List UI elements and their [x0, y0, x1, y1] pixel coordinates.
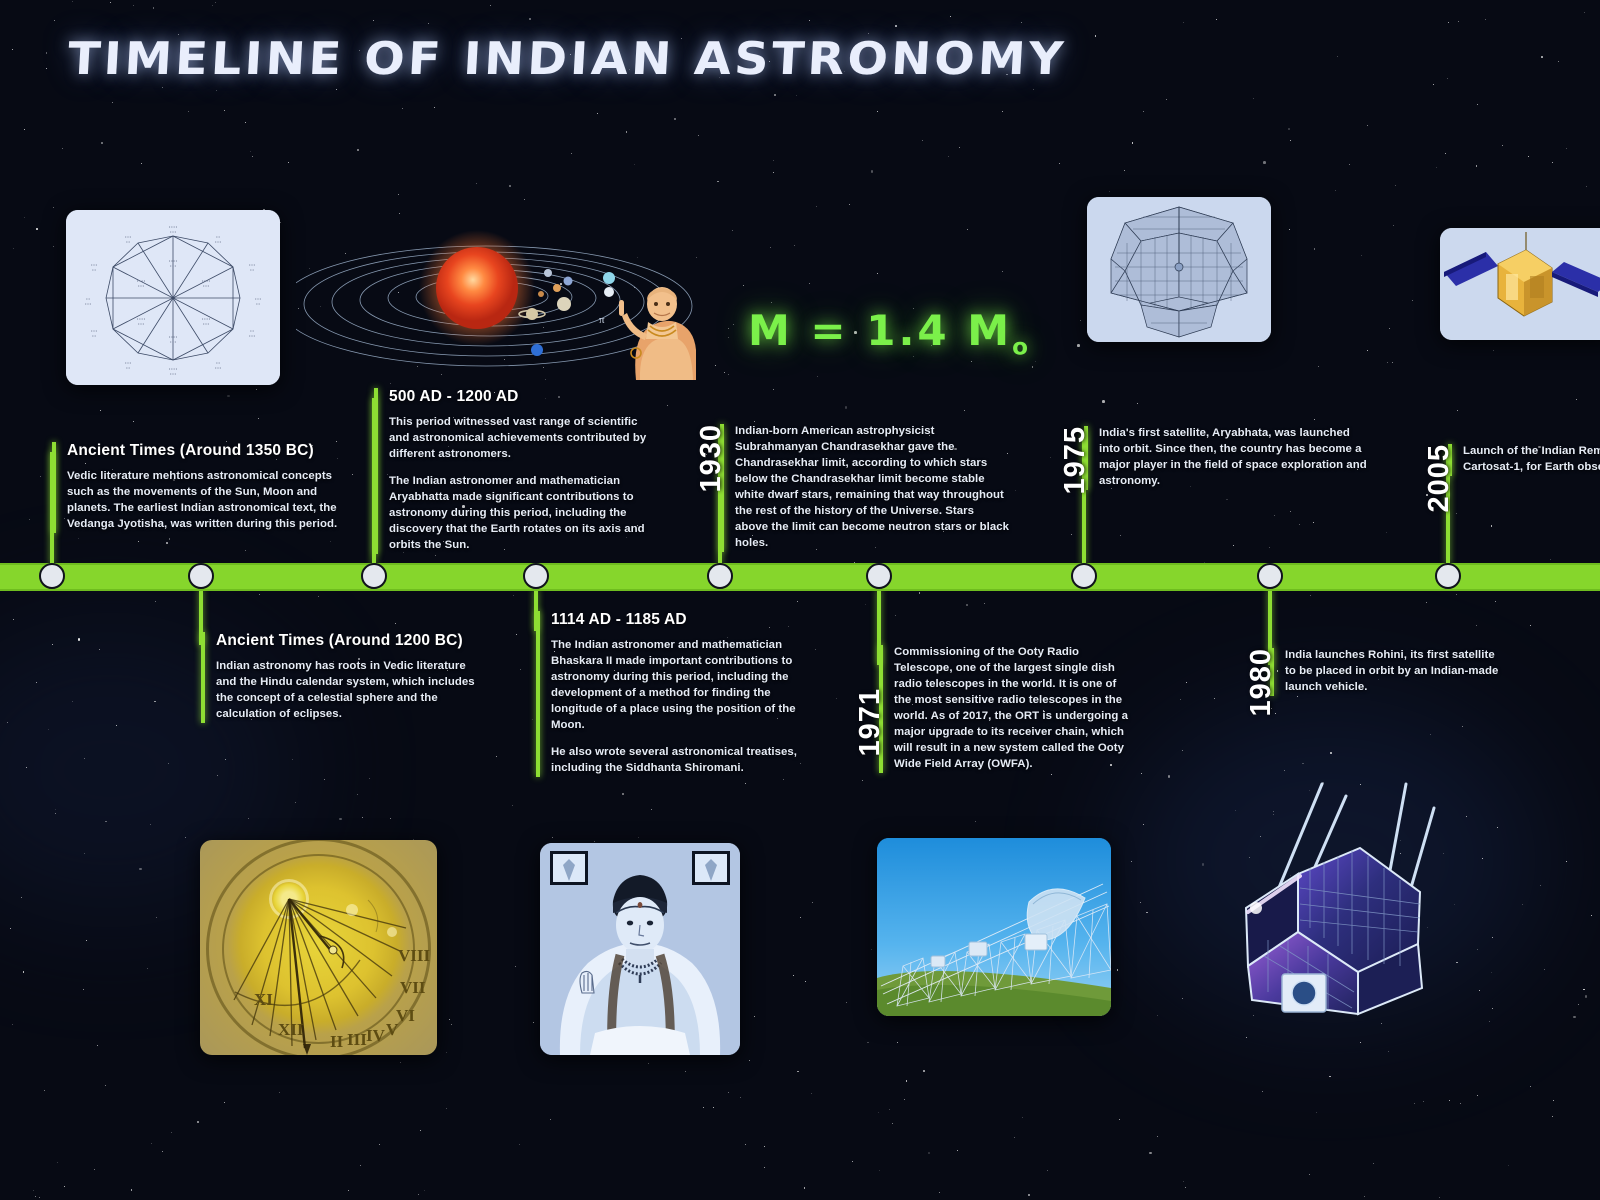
- svg-text:• • • •: • • • •: [202, 279, 211, 283]
- entry-paragraph: The Indian astronomer and mathematician …: [551, 638, 824, 734]
- ooty-telescope-svg: [877, 838, 1111, 1016]
- sundial-numeral: II: [330, 1032, 343, 1052]
- svg-text:π: π: [599, 314, 605, 326]
- timeline-node[interactable]: [188, 563, 214, 589]
- sundial-numeral: III: [347, 1030, 367, 1050]
- entry-paragraph: India launches Rohini, its first satelli…: [1285, 648, 1500, 696]
- svg-text:• • •: • • •: [91, 263, 98, 267]
- svg-text:• • •: • • •: [215, 240, 222, 244]
- entry-year-1980: 1980: [1245, 648, 1278, 717]
- chandrasekhar-limit-formula: M = 1.4 Mo: [748, 306, 1031, 360]
- timeline-node[interactable]: [1435, 563, 1461, 589]
- timeline-node[interactable]: [1071, 563, 1097, 589]
- svg-text:• • •: • • •: [249, 334, 256, 338]
- aryabhata-satellite-image: [1087, 197, 1271, 342]
- timeline-axis: [0, 563, 1600, 591]
- bhaskara-portrait-image: [540, 843, 740, 1055]
- entry-tick: [374, 388, 378, 554]
- timeline-node[interactable]: [39, 563, 65, 589]
- svg-text:• • •: • • •: [249, 263, 256, 267]
- ancient-sundial-image: XI XII II III IV V VI VII VIII: [200, 840, 437, 1055]
- entry-paragraph: The Indian astronomer and mathematician …: [389, 474, 656, 554]
- solar-system-svg: π: [296, 200, 696, 380]
- aryabhata-satellite-svg: [1087, 197, 1271, 342]
- timeline-entry-500-1200ad[interactable]: 500 AD - 1200 AD This period witnessed v…: [374, 388, 656, 554]
- svg-text:• • •: • • •: [170, 264, 177, 268]
- svg-text:• • • •: • • • •: [169, 259, 178, 263]
- svg-text:• • •: • • •: [138, 284, 145, 288]
- timeline-node[interactable]: [707, 563, 733, 589]
- svg-text:• • •: • • •: [255, 297, 262, 301]
- sundial-numeral: VI: [396, 1006, 415, 1026]
- entry-paragraph: Indian astronomy has roots in Vedic lite…: [216, 659, 483, 723]
- formula-text: M = 1.4 M: [748, 306, 1012, 355]
- entry-heading: 500 AD - 1200 AD: [389, 388, 656, 406]
- entry-paragraph: He also wrote several astronomical treat…: [551, 745, 824, 777]
- svg-text:• • •: • • •: [170, 340, 177, 344]
- timeline-entry-1980[interactable]: India launches Rohini, its first satelli…: [1270, 648, 1500, 696]
- entry-year-1975: 1975: [1059, 426, 1092, 495]
- svg-text:• • •: • • •: [125, 235, 132, 239]
- svg-text:• • •: • • •: [91, 329, 98, 333]
- sundial-numeral: VIII: [398, 946, 430, 966]
- timeline-entry-1975[interactable]: India's first satellite, Aryabhata, was …: [1084, 426, 1374, 490]
- page-title-text: TIMELINE OF INDIAN ASTRONOMY: [67, 32, 1068, 85]
- page-title: TIMELINE OF INDIAN ASTRONOMY: [67, 32, 1068, 85]
- timeline-entry-1971[interactable]: Commissioning of the Ooty Radio Telescop…: [879, 645, 1129, 773]
- rohini-satellite-svg: [1190, 762, 1440, 1034]
- entry-year-1971: 1971: [854, 688, 887, 757]
- entry-paragraph: Commissioning of the Ooty Radio Telescop…: [894, 645, 1129, 773]
- entry-year-1930: 1930: [695, 424, 728, 493]
- entry-paragraph: India's first satellite, Aryabhata, was …: [1099, 426, 1374, 490]
- sundial-numeral: XI: [254, 990, 273, 1010]
- svg-text:• • •: • • •: [215, 366, 222, 370]
- timeline-entry-1350bc[interactable]: Ancient Times (Around 1350 BC) Vedic lit…: [52, 442, 357, 533]
- entry-heading: Ancient Times (Around 1350 BC): [67, 442, 357, 460]
- timeline-entry-1114-1185ad[interactable]: 1114 AD - 1185 AD The Indian astronomer …: [536, 611, 824, 777]
- entry-paragraph: Vedic literature mehtions astronomical c…: [67, 469, 357, 533]
- svg-text:• • • •: • • • •: [169, 225, 178, 229]
- entry-paragraph: Launch of the Indian Remote Sensing sate…: [1463, 444, 1600, 476]
- svg-text:• • • •: • • • •: [169, 367, 178, 371]
- timeline-node[interactable]: [361, 563, 387, 589]
- bhaskara-portrait-svg: [540, 843, 740, 1055]
- timeline-node[interactable]: [1257, 563, 1283, 589]
- entry-tick: [536, 611, 540, 777]
- svg-text:• • •: • • •: [203, 284, 210, 288]
- svg-text:• • •: • • •: [125, 361, 132, 365]
- svg-text:• • • •: • • • •: [169, 335, 178, 339]
- svg-text:• • • •: • • • •: [137, 317, 146, 321]
- cartosat-satellite-image: [1440, 228, 1600, 340]
- entry-tick: [52, 442, 56, 533]
- vedic-calendar-chart-image: • • • •• • • • • •• • • •• • • • • •• • …: [66, 210, 280, 385]
- svg-text:• • •: • • •: [170, 372, 177, 376]
- svg-text:• • •: • • •: [203, 322, 210, 326]
- entry-year-2005: 2005: [1423, 444, 1456, 513]
- entry-paragraph: Indian-born American astrophysicist Subr…: [735, 424, 1010, 552]
- entry-paragraph: This period witnessed vast range of scie…: [389, 415, 656, 463]
- sundial-numeral: IV: [366, 1026, 385, 1046]
- timeline-entry-2005[interactable]: Launch of the Indian Remote Sensing sate…: [1448, 444, 1600, 476]
- sundial-numeral: VII: [400, 978, 426, 998]
- solar-system-aryabhatta-image: π: [296, 200, 696, 380]
- svg-text:• • •: • • •: [85, 302, 92, 306]
- timeline-entry-1930[interactable]: Indian-born American astrophysicist Subr…: [720, 424, 1010, 552]
- formula-subscript: o: [1012, 334, 1031, 360]
- sundial-numeral: XII: [278, 1020, 304, 1040]
- entry-heading: 1114 AD - 1185 AD: [551, 611, 824, 629]
- entry-heading: Ancient Times (Around 1200 BC): [216, 632, 483, 650]
- timeline-node[interactable]: [866, 563, 892, 589]
- svg-text:• • • •: • • • •: [202, 317, 211, 321]
- svg-text:• • • •: • • • •: [137, 279, 146, 283]
- vedic-calendar-chart-svg: • • • •• • • • • •• • • •• • • • • •• • …: [66, 210, 280, 385]
- cartosat-satellite-svg: [1440, 228, 1600, 340]
- timeline-node[interactable]: [523, 563, 549, 589]
- rohini-satellite-image: [1190, 762, 1440, 1034]
- svg-text:• • •: • • •: [170, 230, 177, 234]
- entry-tick: [201, 632, 205, 723]
- ooty-radio-telescope-image: [877, 838, 1111, 1016]
- svg-text:• • •: • • •: [138, 322, 145, 326]
- timeline-entry-1200bc[interactable]: Ancient Times (Around 1200 BC) Indian as…: [201, 632, 483, 723]
